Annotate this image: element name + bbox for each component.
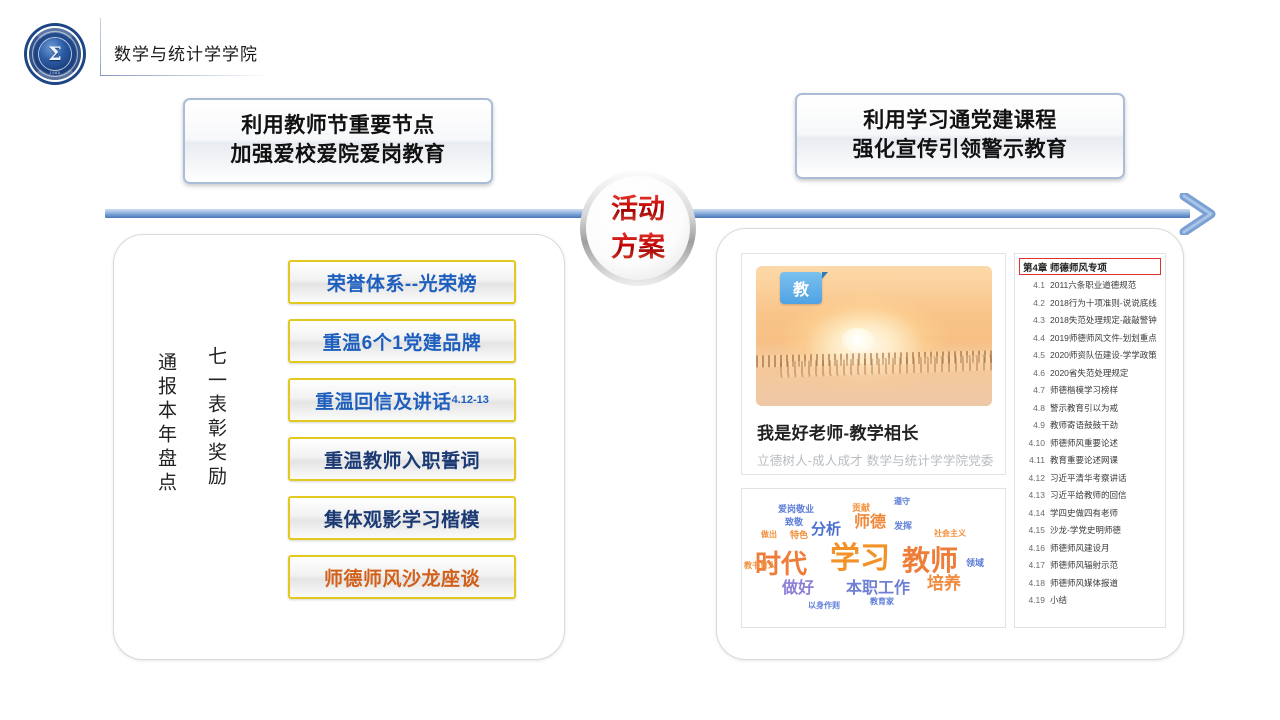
left-vertical-label-a: 通报本年盘点 (153, 352, 180, 496)
chapter-item-label: 教育重要论述网课 (1050, 454, 1118, 466)
chapter-item-label: 师德师风辐射示范 (1050, 559, 1118, 571)
chapter-list: 4.12011六条职业道德规范4.22018行为十项准则-说说底线4.32018… (1019, 279, 1161, 612)
action-button-5[interactable]: 集体观影学习楷模 (288, 496, 516, 540)
chapter-list-item[interactable]: 4.62020省失范处理规定 (1019, 367, 1161, 385)
banner-left-line1: 利用教师节重要节点 (241, 112, 435, 141)
chapter-list-item[interactable]: 4.12011六条职业道德规范 (1019, 279, 1161, 297)
chapter-item-number: 4.14 (1019, 508, 1050, 518)
chapter-list-item[interactable]: 4.14学四史做四有老师 (1019, 507, 1161, 525)
chapter-item-number: 4.8 (1019, 403, 1050, 413)
chapter-list-item[interactable]: 4.17师德师风辐射示范 (1019, 559, 1161, 577)
chapter-item-label: 2011六条职业道德规范 (1050, 279, 1136, 291)
chapter-item-label: 师德师风重要论述 (1050, 437, 1118, 449)
action-button-6[interactable]: 师德师风沙龙座谈 (288, 555, 516, 599)
action-label-4: 重温教师入职誓词 (324, 446, 480, 473)
action-button-3[interactable]: 重温回信及讲话4.12-13 (288, 378, 516, 422)
word-cloud-term: 致敬 (785, 518, 803, 527)
chapter-list-item[interactable]: 4.8警示教育引以为戒 (1019, 402, 1161, 420)
center-badge-line1: 活动 (611, 194, 665, 225)
header-divider (100, 18, 101, 76)
action-label-6: 师德师风沙龙座谈 (324, 564, 480, 591)
word-cloud-term: 教书育人 (744, 562, 776, 570)
chapter-item-number: 4.13 (1019, 490, 1050, 500)
chapter-item-number: 4.1 (1019, 280, 1050, 290)
chapter-item-number: 4.9 (1019, 420, 1050, 430)
chapter-header-box: 第4章 师德师风专项 (1019, 258, 1161, 275)
chapter-list-item[interactable]: 4.15沙龙-学党史明师德 (1019, 524, 1161, 542)
chapter-list-item[interactable]: 4.9教师寄语鼓鼓干劲 (1019, 419, 1161, 437)
chapter-list-item[interactable]: 4.16师德师风建设月 (1019, 542, 1161, 560)
chapter-list-item[interactable]: 4.32018失范处理规定-敲敲警钟 (1019, 314, 1161, 332)
chapter-item-label: 小结 (1050, 594, 1067, 606)
banner-left-line2: 加强爱校爱院爱岗教育 (231, 141, 446, 170)
chapter-item-label: 师德师风媒体报道 (1050, 577, 1118, 589)
word-cloud-term: 爱岗敬业 (778, 505, 814, 514)
word-cloud-term: 本职工作 (846, 581, 910, 597)
course-title: 我是好老师-教学相长 (757, 419, 919, 444)
word-cloud-term: 教育家 (870, 598, 894, 606)
chapter-list-item[interactable]: 4.7师德楷模学习榜样 (1019, 384, 1161, 402)
chapter-list-item[interactable]: 4.13习近平给教师的回信 (1019, 489, 1161, 507)
chapter-item-number: 4.16 (1019, 543, 1050, 553)
page-header: Σ 1985 数学与统计学学院 (0, 0, 1280, 92)
word-cloud-term: 培养 (927, 575, 961, 592)
center-badge-line2: 方案 (611, 231, 666, 263)
header-underline (100, 75, 270, 76)
chapter-panel: 第4章 师德师风专项 4.12011六条职业道德规范4.22018行为十项准则-… (1014, 253, 1166, 628)
chapter-list-item[interactable]: 4.19小结 (1019, 594, 1161, 612)
chapter-item-label: 2018失范处理规定-敲敲警钟 (1050, 314, 1157, 326)
action-label-3: 重温回信及讲话 (315, 387, 452, 414)
chapter-item-number: 4.17 (1019, 560, 1050, 570)
word-cloud-term: 做好 (782, 581, 814, 597)
chapter-item-number: 4.10 (1019, 438, 1050, 448)
college-logo: Σ 1985 (27, 26, 83, 82)
course-type-badge: 教 (780, 272, 822, 304)
left-vertical-label-b: 七一表彰奖励 (203, 346, 230, 490)
chapter-item-label: 警示教育引以为戒 (1050, 402, 1118, 414)
chapter-item-label: 2018行为十项准则-说说底线 (1050, 297, 1157, 309)
word-cloud-term: 领域 (966, 559, 984, 568)
logo-inner-disc: Σ (39, 38, 71, 70)
word-cloud-term: 教师 (902, 547, 958, 575)
chapter-list-item[interactable]: 4.18师德师风媒体报道 (1019, 577, 1161, 595)
course-subtitle: 立德树人-成人成才 数学与统计学学院党委 (757, 450, 994, 469)
banner-right-line1: 利用学习通党建课程 (863, 107, 1057, 136)
chapter-item-number: 4.4 (1019, 333, 1050, 343)
chapter-list-item[interactable]: 4.22018行为十项准则-说说底线 (1019, 297, 1161, 315)
chapter-item-number: 4.15 (1019, 525, 1050, 535)
chapter-item-label: 沙龙-学党史明师德 (1050, 524, 1121, 536)
word-cloud: 时代学习教师师德分析培养本职工作做好爱岗敬业贡献遵守致敬发挥做出特色社会主义教书… (741, 488, 1006, 628)
word-cloud-term: 师德 (854, 515, 886, 531)
chapter-list-item[interactable]: 4.11教育重要论述网课 (1019, 454, 1161, 472)
word-cloud-term: 学习 (830, 544, 890, 574)
chapter-item-label: 学四史做四有老师 (1050, 507, 1118, 519)
chapter-item-label: 2019师德师风文件-划划重点 (1050, 332, 1157, 344)
action-label-5: 集体观影学习楷模 (324, 505, 480, 532)
chapter-item-label: 师德楷模学习榜样 (1050, 384, 1118, 396)
chapter-item-label: 教师寄语鼓鼓干劲 (1050, 419, 1118, 431)
page-title: 数学与统计学学院 (114, 40, 258, 65)
chapter-item-label: 2020师资队伍建设-学学政策 (1050, 349, 1157, 361)
arrow-head-icon (1178, 193, 1218, 235)
logo-year-text: 1985 (27, 70, 83, 75)
chapter-item-number: 4.6 (1019, 368, 1050, 378)
word-cloud-term: 以身作则 (808, 602, 840, 610)
word-cloud-term: 特色 (790, 531, 808, 540)
photo-sun-glow (841, 328, 875, 352)
sigma-icon: Σ (39, 38, 71, 70)
chapter-list-item[interactable]: 4.12习近平清华考察讲话 (1019, 472, 1161, 490)
word-cloud-term: 贡献 (852, 504, 870, 513)
chapter-item-number: 4.2 (1019, 298, 1050, 308)
word-cloud-term: 分析 (811, 522, 841, 537)
chapter-item-label: 2020省失范处理规定 (1050, 367, 1128, 379)
banner-right: 利用学习通党建课程 强化宣传引领警示教育 (795, 93, 1125, 179)
chapter-list-item[interactable]: 4.42019师德师风文件-划划重点 (1019, 332, 1161, 350)
action-sup-3: 4.12-13 (452, 394, 489, 406)
chapter-list-item[interactable]: 4.10师德师风重要论述 (1019, 437, 1161, 455)
chapter-item-number: 4.3 (1019, 315, 1050, 325)
chapter-item-number: 4.18 (1019, 578, 1050, 588)
chapter-item-number: 4.11 (1019, 455, 1050, 465)
chapter-item-label: 习近平清华考察讲话 (1050, 472, 1127, 484)
word-cloud-term: 做出 (761, 531, 777, 539)
banner-left: 利用教师节重要节点 加强爱校爱院爱岗教育 (183, 98, 493, 184)
word-cloud-term: 社会主义 (934, 530, 966, 538)
banner-right-line2: 强化宣传引领警示教育 (853, 136, 1068, 165)
course-card[interactable]: 教 我是好老师-教学相长 立德树人-成人成才 数学与统计学学院党委 (741, 253, 1006, 475)
action-label-1: 荣誉体系--光荣榜 (327, 269, 477, 296)
chapter-item-number: 4.19 (1019, 595, 1050, 605)
chapter-item-label: 师德师风建设月 (1050, 542, 1110, 554)
chapter-item-label: 习近平给教师的回信 (1050, 489, 1127, 501)
action-button-4[interactable]: 重温教师入职誓词 (288, 437, 516, 481)
chapter-header-label: 第4章 师德师风专项 (1023, 260, 1107, 274)
word-cloud-term: 遵守 (894, 498, 910, 506)
action-label-2: 重温6个1党建品牌 (323, 328, 482, 355)
chapter-item-number: 4.12 (1019, 473, 1050, 483)
chapter-list-item[interactable]: 4.52020师资队伍建设-学学政策 (1019, 349, 1161, 367)
word-cloud-term: 发挥 (894, 522, 912, 531)
chapter-item-number: 4.7 (1019, 385, 1050, 395)
action-button-1[interactable]: 荣誉体系--光荣榜 (288, 260, 516, 304)
chapter-item-number: 4.5 (1019, 350, 1050, 360)
center-badge: 活动 方案 (572, 166, 712, 294)
action-button-2[interactable]: 重温6个1党建品牌 (288, 319, 516, 363)
